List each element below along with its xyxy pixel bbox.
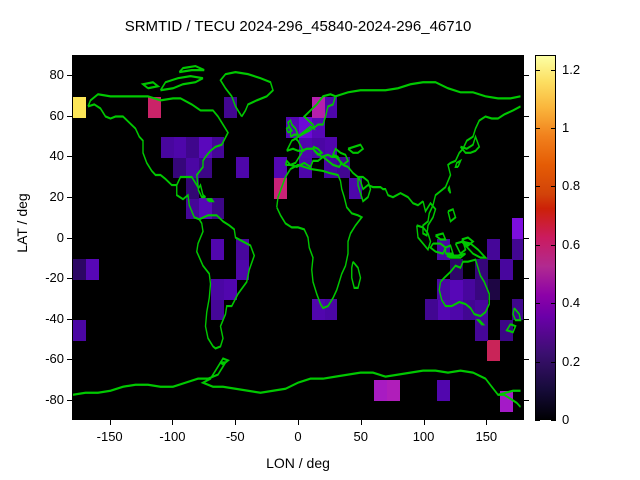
y-axis-tick-label: -60 [18,351,64,366]
y-axis-tick [524,197,529,198]
colorbar-tick [535,186,540,187]
y-axis-tick [67,319,72,320]
x-axis-tick [172,55,173,60]
x-axis-title: LON / deg [0,455,596,471]
x-axis-tick [298,55,299,60]
y-axis-tick-label: 20 [18,189,64,204]
x-axis-tick [110,55,111,60]
x-axis-tick-label: 100 [394,429,454,444]
colorbar-tick-label: 0 [562,412,569,427]
y-axis-tick [67,359,72,360]
y-axis-tick [67,75,72,76]
x-axis-tick-label: -50 [205,429,265,444]
y-axis-tick [67,197,72,198]
x-axis-tick-label: 0 [268,429,328,444]
y-axis-title: LAT / deg [14,163,30,283]
colorbar-tick [551,70,556,71]
colorbar-tick [551,245,556,246]
colorbar [535,55,556,420]
x-axis-tick [235,55,236,60]
x-axis-tick-label: -100 [142,429,202,444]
colorbar-tick-label: 0.4 [562,295,580,310]
colorbar-tick-label: 1.2 [562,62,580,77]
x-axis-tick [172,420,173,425]
x-axis-tick [298,420,299,425]
x-axis-tick-label: -150 [80,429,140,444]
colorbar-tick-label: 0.2 [562,354,580,369]
y-axis-tick-label: 40 [18,148,64,163]
colorbar-tick [551,128,556,129]
y-axis-tick-label: -40 [18,311,64,326]
x-axis-tick [486,55,487,60]
x-axis-tick [361,55,362,60]
colorbar-tick [535,70,540,71]
colorbar-tick [535,362,540,363]
chart-stage: SRMTID / TECU 2024-296_45840-2024-296_46… [0,0,640,480]
colorbar-tick [551,362,556,363]
y-axis-tick-label: -80 [18,392,64,407]
x-axis-tick [424,55,425,60]
y-axis-tick [67,278,72,279]
y-axis-tick-label: -20 [18,270,64,285]
y-axis-tick [524,319,529,320]
y-axis-tick [524,359,529,360]
x-axis-tick [486,420,487,425]
colorbar-tick [551,303,556,304]
y-axis-tick [524,116,529,117]
colorbar-tick [535,245,540,246]
x-axis-tick-label: 50 [331,429,391,444]
y-axis-tick [524,278,529,279]
y-axis-tick [67,238,72,239]
x-axis-tick [110,420,111,425]
x-axis-tick [235,420,236,425]
colorbar-tick-label: 0.8 [562,178,580,193]
coastline-layer [73,56,523,419]
y-axis-tick [524,75,529,76]
colorbar-tick [535,303,540,304]
colorbar-tick [535,128,540,129]
y-axis-tick [67,116,72,117]
y-axis-tick [524,238,529,239]
colorbar-tick [535,420,540,421]
y-axis-tick [67,156,72,157]
chart-title: SRMTID / TECU 2024-296_45840-2024-296_46… [0,18,596,35]
map-plot-area [72,55,524,420]
x-axis-tick [361,420,362,425]
y-axis-tick [524,400,529,401]
colorbar-tick-label: 1 [562,120,569,135]
y-axis-tick [67,400,72,401]
x-axis-tick-label: 150 [456,429,516,444]
y-axis-tick-label: 0 [18,230,64,245]
colorbar-tick-label: 0.6 [562,237,580,252]
y-axis-tick-label: 80 [18,67,64,82]
colorbar-tick [551,186,556,187]
x-axis-tick [424,420,425,425]
y-axis-tick-label: 60 [18,108,64,123]
colorbar-tick [551,420,556,421]
y-axis-tick [524,156,529,157]
